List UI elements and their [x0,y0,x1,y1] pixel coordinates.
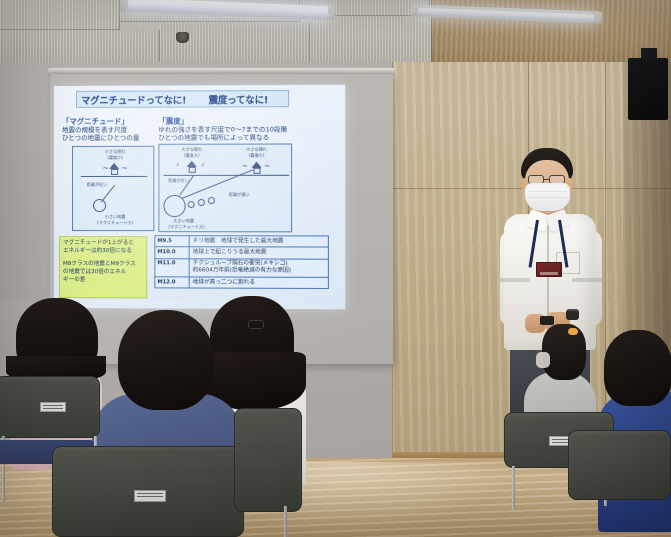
table-cell-description: チリ地震 地球で発生した最大地震 [190,236,328,247]
dg2-source-circle [163,195,185,217]
audience-girl-gray-head [542,324,586,380]
presenter-sleeve-right [572,278,602,282]
chair-label-tag [134,490,166,502]
energy-note-line-1: マグニチュードが1上がると [63,240,143,248]
chair-right-2[interactable] [568,430,671,500]
magnitude-table: M9.5 チリ地震 地球で発生した最大地震 M10.0 地球上で起こりうる最大地… [154,235,329,289]
audience-blue-right-head [604,330,671,406]
name-badge [536,262,562,277]
table-cell-magnitude: M9.5 [155,236,189,246]
table-cell-description: 地球上で起こりうる最大地震 [190,248,328,259]
chair-leg [512,466,515,510]
energy-note-box: マグニチュードが1上がると エネルギーは約30倍になる M8クラスの地震とM9ク… [59,236,147,298]
table-cell-description: 地球が真っ二つに割れる [190,277,328,288]
ceiling [0,0,671,66]
chair-left[interactable] [0,376,100,438]
table-cell-magnitude: M10.0 [155,247,189,257]
energy-note-line-3: M8クラスの地震とM9クラス [63,261,143,269]
slide-title-part2: 震度ってなに! [209,95,269,106]
audience-girl-gray-mask [536,352,550,368]
dg2-distance-far: 距離が遠い [222,193,256,198]
small-earthquake-diagram: 小さな揺れ (震度小) 〜 〜 距離が近い 小さい地震 (マグニチュード小) [72,146,154,231]
slide-title: マグニチュードってなに! 震度ってなに! [81,92,298,107]
table-row: M9.5 チリ地震 地球で発生した最大地震 [155,236,327,248]
wall-speaker [628,58,668,120]
audience-glasses [248,320,264,329]
table-row: M11.0 チクシュルーブ隕石の衝突(メキシコ) 約6604万年前(恐竜絶滅の有… [155,259,327,278]
dg2-ground [163,175,289,177]
presenter-sleeve-left [500,278,530,282]
sprinkler-head [176,32,189,43]
table-cell-magnitude: M12.0 [155,277,189,287]
chair-center[interactable] [52,446,244,537]
energy-note-line-5: ギーの差 [63,277,143,285]
large-earthquake-diagram: 大きな揺れ (震度大) ⚡ ⚡ 小さな揺れ (震度小) 〜 〜 距離が近い 距離… [158,143,292,232]
chair-label-tag [40,402,66,412]
dg1-house-caption-2: (震度小) [95,156,135,161]
audience-boy-blue-head [118,310,214,410]
chair-backrest[interactable] [568,430,671,500]
dg2-house-b [251,162,262,174]
hair-clip [568,328,578,335]
dg1-distance-label: 距離が近い [80,183,114,188]
dg2-house-a-caption-2: (震度大) [172,154,212,159]
energy-note-line-4: の地震では30倍のエネル [63,269,143,277]
slide-title-part1: マグニチュードってなに! [81,95,186,106]
dg1-ground [81,176,147,177]
projected-slide: マグニチュードってなに! 震度ってなに! 「マグニチュード」 地震の規模を表す尺… [54,85,345,310]
dg1-house [109,163,120,175]
table-cell-description-2: 約6604万年前(恐竜絶滅の有力な原因) [193,268,325,276]
lecture-room-photo: マグニチュードってなに! 震度ってなに! 「マグニチュード」 地震の規模を表す尺… [0,0,671,537]
chair-backrest[interactable] [234,408,302,512]
table-row: M12.0 地球が真っ二つに割れる [155,277,327,289]
intensity-line-2: ひとつの地震でも場所によって異なる [158,133,269,142]
chair-leg [284,506,287,537]
dg2-house-a [187,161,198,173]
face-mask [525,183,570,211]
glasses-bridge [544,179,549,180]
magnitude-line-2: ひとつの地震にひとつの量 [62,134,139,143]
table-cell-magnitude: M11.0 [155,259,189,277]
dg2-house-b-caption-2: (震度小) [236,154,277,159]
energy-note-line-2: エネルギーは約30倍になる [63,248,143,256]
wristwatch [566,309,579,320]
dg1-source-label-2: (マグニチュード小) [83,221,147,226]
dg2-source-label-2: (マグニチュード大) [155,225,218,230]
dg1-source-circle [93,199,106,212]
table-row: M10.0 地球上で起こりうる最大地震 [155,247,327,259]
chair-center-right[interactable] [234,408,302,512]
